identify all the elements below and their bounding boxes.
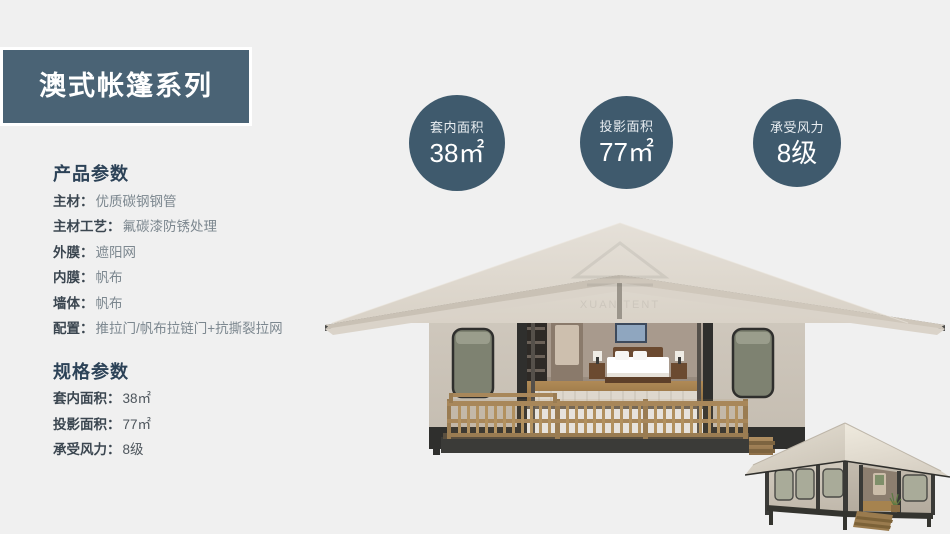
badge-wind-resistance: 承受风力 8级 [753,99,841,187]
spec-row: 外膜：遮阳网 [53,246,353,260]
badge-value: 38㎡ [430,140,485,166]
series-title-banner: 澳式帐篷系列 [0,47,252,126]
series-title-text: 澳式帐篷系列 [39,73,213,100]
product-params-heading: 产品参数 [53,164,353,186]
spec-row: 主材：优质碳钢钢管 [53,195,353,209]
badge-interior-area: 套内面积 38㎡ [409,95,505,191]
spec-value: 77㎡ [123,417,152,432]
spec-params-group: 规格参数 套内面积：38㎡ 投影面积：77㎡ 承受风力：8级 [53,362,353,457]
spec-label: 配置： [53,321,94,336]
badge-value: 77㎡ [599,139,654,165]
spec-label: 承受风力： [53,442,121,457]
spec-row: 墙体：帆布 [53,297,353,311]
product-params-group: 产品参数 主材：优质碳钢钢管 主材工艺：氟碳漆防锈处理 外膜：遮阳网 内膜：帆布… [53,164,353,336]
svg-text:XUAN TENT: XUAN TENT [580,299,660,311]
spec-row: 内膜：帆布 [53,271,353,285]
thumb-tent-illustration [745,415,950,534]
specification-column: 产品参数 主材：优质碳钢钢管 主材工艺：氟碳漆防锈处理 外膜：遮阳网 内膜：帆布… [53,164,353,469]
spec-label: 套内面积： [53,391,121,406]
spec-params-heading: 规格参数 [53,362,353,384]
spec-row: 承受风力：8级 [53,443,353,457]
spec-label: 内膜： [53,270,94,285]
spec-value: 遮阳网 [96,245,137,260]
badge-label: 承受风力 [770,121,824,134]
spec-label: 墙体： [53,296,94,311]
spec-row: 套内面积：38㎡ [53,392,353,406]
spec-label: 外膜： [53,245,94,260]
spec-row: 配置：推拉门/帆布拉链门+抗撕裂拉网 [53,322,353,336]
spec-value: 优质碳钢钢管 [96,194,177,209]
badge-value: 8级 [777,140,817,166]
badge-label: 投影面积 [599,120,653,133]
spec-value: 帆布 [96,296,123,311]
spec-value: 氟碳漆防锈处理 [123,219,218,234]
spec-row: 主材工艺：氟碳漆防锈处理 [53,220,353,234]
spec-label: 主材工艺： [53,219,121,234]
spec-label: 投影面积： [53,417,121,432]
slide-canvas: 澳式帐篷系列 产品参数 主材：优质碳钢钢管 主材工艺：氟碳漆防锈处理 外膜：遮阳… [0,0,950,534]
spec-value: 推拉门/帆布拉链门+抗撕裂拉网 [96,321,283,336]
spec-value: 38㎡ [123,391,152,406]
spec-value: 帆布 [96,270,123,285]
spec-label: 主材： [53,194,94,209]
badge-label: 套内面积 [430,121,484,134]
thumb-tent-image [745,415,950,534]
badge-projected-area: 投影面积 77㎡ [580,96,673,189]
spec-value: 8级 [123,442,144,457]
spec-row: 投影面积：77㎡ [53,418,353,432]
